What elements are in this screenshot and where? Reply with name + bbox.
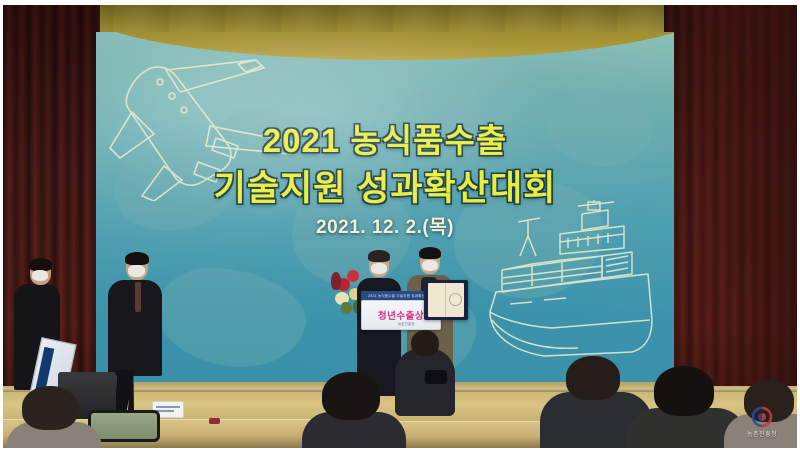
taegeuk-emblem-icon [751,406,773,428]
video-frame: 2021 농식품수출 기술지원 성과확산대회 2021. 12. 2.(목) [0,0,800,452]
placard-award-text: 청년수출상 [378,308,424,322]
face-mask [128,265,145,277]
certificate-fold [445,283,446,317]
person-head [654,366,714,416]
person-hair [125,252,149,265]
person-hair [419,247,441,259]
camera-icon [425,370,447,384]
letterbox-bottom [0,448,800,452]
face-mask [422,260,438,271]
placard-footer: 농촌진흥청 [398,322,415,327]
person-head [566,356,620,400]
watermark-label: 농촌진흥청 [736,429,788,438]
bouquet-wrap [331,272,341,290]
bouquet-leaf [341,302,352,314]
person-head [22,386,78,430]
bouquet-flower [347,270,359,282]
face-mask [32,270,48,281]
person-head [411,330,439,356]
broadcaster-watermark: 농촌진흥청 [736,406,788,440]
airplane-line-art-icon [106,46,316,201]
world-map-silhouette [545,89,656,171]
person-hair [368,250,390,262]
necktie [135,282,141,312]
world-map-silhouette [387,80,492,174]
award-certificate-folder [424,280,468,320]
screenshot-root: 2021 농식품수출 기술지원 성과확산대회 2021. 12. 2.(목) [0,0,800,452]
letterbox-left [0,0,3,452]
desk-small-object [209,418,220,424]
face-mask [371,263,387,274]
world-map-silhouette [150,260,312,376]
name-card-line [156,406,180,408]
certificate-seal [449,293,462,306]
person-head [322,372,380,420]
container-ship-line-art-icon [482,200,672,380]
letterbox-top [0,0,800,5]
